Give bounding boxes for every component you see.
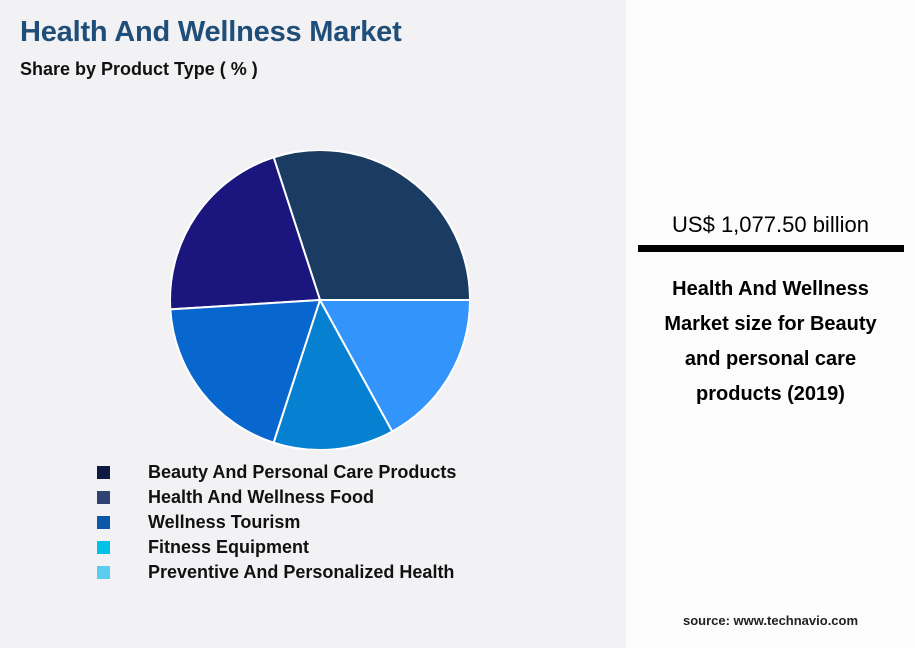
kpi-panel: US$ 1,077.50 billion Health And Wellness… — [626, 0, 915, 648]
legend-swatch-icon — [97, 491, 110, 504]
legend-swatch-icon — [97, 541, 110, 554]
legend-item-label: Wellness Tourism — [148, 512, 300, 533]
legend-swatch-icon — [97, 566, 110, 579]
legend-swatch-icon — [97, 466, 110, 479]
chart-legend: Beauty And Personal Care Products Health… — [97, 460, 597, 585]
source-note: source: www.technavio.com — [626, 613, 915, 628]
pie-chart-svg — [170, 150, 470, 450]
chart-panel: Health And Wellness Market Share by Prod… — [0, 0, 626, 648]
legend-item-wellness-tourism[interactable]: Wellness Tourism — [97, 510, 597, 535]
pie-chart — [170, 150, 470, 450]
legend-item-label: Preventive And Personalized Health — [148, 562, 454, 583]
legend-item-fitness-equipment[interactable]: Fitness Equipment — [97, 535, 597, 560]
page-title: Health And Wellness Market — [20, 16, 402, 49]
legend-item-label: Health And Wellness Food — [148, 487, 374, 508]
kpi-caption: Health And Wellness Market size for Beau… — [646, 272, 895, 412]
kpi-divider — [638, 245, 904, 252]
legend-item-health-and-wellness-food[interactable]: Health And Wellness Food — [97, 485, 597, 510]
legend-item-label: Beauty And Personal Care Products — [148, 462, 456, 483]
legend-item-beauty-and-personal-care-products[interactable]: Beauty And Personal Care Products — [97, 460, 597, 485]
kpi-value: US$ 1,077.50 billion — [626, 212, 915, 238]
chart-subtitle: Share by Product Type ( % ) — [20, 59, 258, 80]
legend-swatch-icon — [97, 516, 110, 529]
legend-item-preventive-and-personalized-health[interactable]: Preventive And Personalized Health — [97, 560, 597, 585]
legend-item-label: Fitness Equipment — [148, 537, 309, 558]
